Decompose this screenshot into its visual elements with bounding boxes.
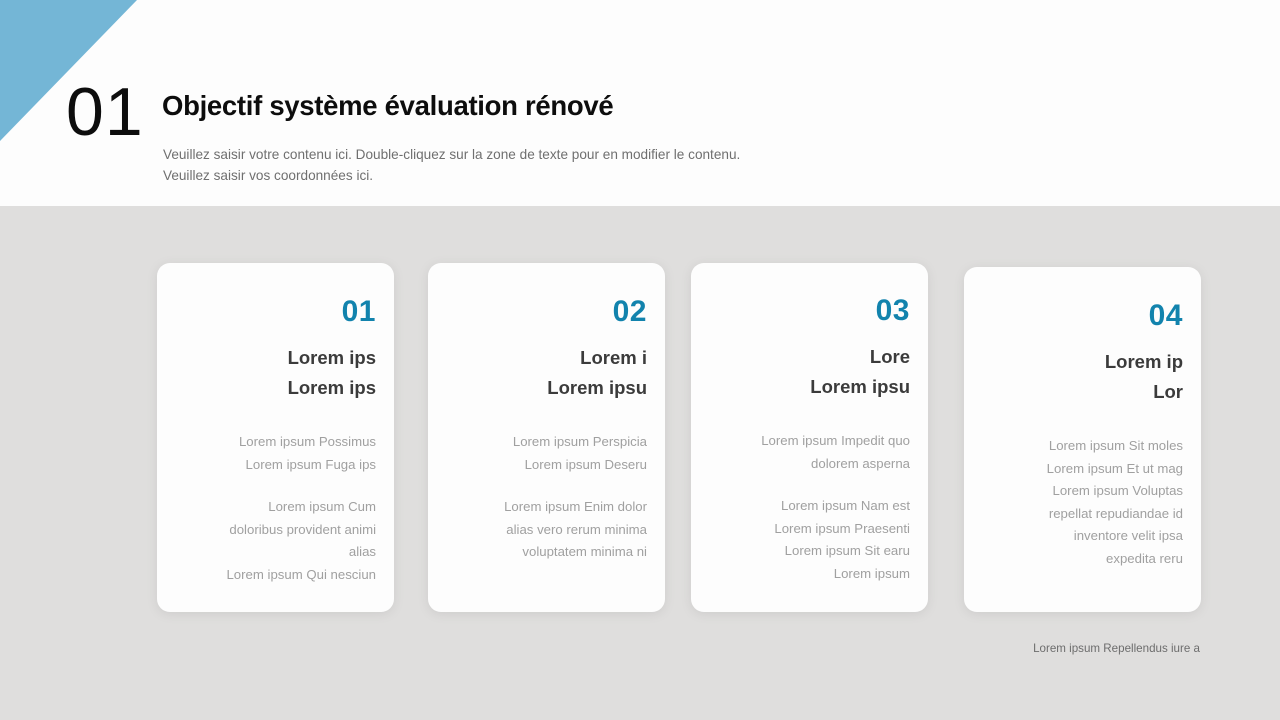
card-number: 02 — [446, 297, 647, 327]
card-body-line: Lorem ipsum Et ut mag — [982, 458, 1183, 481]
card-heading-line-2: Lorem ips — [175, 373, 376, 403]
card-item[interactable]: 03 Lore Lorem ipsu Lorem ipsum Impedit q… — [691, 263, 928, 612]
card-heading-line-1: Lorem ips — [175, 343, 376, 373]
card-body-line: alias vero rerum minima — [446, 519, 647, 542]
card-heading: Lorem ip Lor — [982, 347, 1183, 407]
card-body-line: Lorem ipsum Sit moles — [982, 435, 1183, 458]
card-heading: Lore Lorem ipsu — [709, 342, 910, 402]
card-body-paragraph-2: Lorem ipsum Cumdoloribus provident animi… — [175, 496, 376, 586]
slide: 01 Objectif système évaluation rénové Ve… — [0, 0, 1280, 720]
card-body-line: Lorem ipsum Impedit quo — [709, 430, 910, 453]
card-body-paragraph-1: Lorem ipsum Sit molesLorem ipsum Et ut m… — [982, 435, 1183, 570]
card-heading-line-2: Lorem ipsu — [709, 372, 910, 402]
card-heading-line-2: Lor — [982, 377, 1183, 407]
card-body-paragraph-2: Lorem ipsum Enim doloralias vero rerum m… — [446, 496, 647, 564]
card-body-line: Lorem ipsum Possimus — [175, 431, 376, 454]
card-body-line: Lorem ipsum — [709, 563, 910, 586]
card-body-line: doloribus provident animi — [175, 519, 376, 542]
card-body-line: Lorem ipsum Perspicia — [446, 431, 647, 454]
card-body-line: alias — [175, 541, 376, 564]
card-heading-line-1: Lorem ip — [982, 347, 1183, 377]
card-number: 03 — [709, 296, 910, 326]
card-body-line: Lorem ipsum Enim dolor — [446, 496, 647, 519]
card-body-line: inventore velit ipsa — [982, 525, 1183, 548]
card-body-line: Lorem ipsum Voluptas — [982, 480, 1183, 503]
card-body-line: Lorem ipsum Fuga ips — [175, 454, 376, 477]
card-body-line: repellat repudiandae id — [982, 503, 1183, 526]
footer-note: Lorem ipsum Repellendus iure a — [0, 641, 1200, 657]
card-body-paragraph-2: Lorem ipsum Nam estLorem ipsum Praesenti… — [709, 495, 910, 585]
card-body-line: Lorem ipsum Deseru — [446, 454, 647, 477]
card-heading-line-2: Lorem ipsu — [446, 373, 647, 403]
card-heading-line-1: Lorem i — [446, 343, 647, 373]
card-number: 01 — [175, 297, 376, 327]
card-body-line: Lorem ipsum Sit earu — [709, 540, 910, 563]
card-heading: Lorem i Lorem ipsu — [446, 343, 647, 403]
card-body-line: Lorem ipsum Nam est — [709, 495, 910, 518]
card-body-line: Lorem ipsum Cum — [175, 496, 376, 519]
card-body-paragraph-1: Lorem ipsum PerspiciaLorem ipsum Deseru — [446, 431, 647, 476]
card-body-line: expedita reru — [982, 548, 1183, 571]
card-heading: Lorem ips Lorem ips — [175, 343, 376, 403]
card-body-paragraph-1: Lorem ipsum Impedit quodolorem asperna — [709, 430, 910, 475]
card-body-line: Lorem ipsum Qui nesciun — [175, 564, 376, 587]
card-body-paragraph-1: Lorem ipsum PossimusLorem ipsum Fuga ips — [175, 431, 376, 476]
card-item[interactable]: 04 Lorem ip Lor Lorem ipsum Sit molesLor… — [964, 267, 1201, 612]
card-item[interactable]: 01 Lorem ips Lorem ips Lorem ipsum Possi… — [157, 263, 394, 612]
card-body-line: voluptatem minima ni — [446, 541, 647, 564]
card-item[interactable]: 02 Lorem i Lorem ipsu Lorem ipsum Perspi… — [428, 263, 665, 612]
card-body-line: Lorem ipsum Praesenti — [709, 518, 910, 541]
card-body-line: dolorem asperna — [709, 453, 910, 476]
card-list: 01 Lorem ips Lorem ips Lorem ipsum Possi… — [0, 0, 1280, 720]
card-number: 04 — [982, 301, 1183, 331]
card-heading-line-1: Lore — [709, 342, 910, 372]
